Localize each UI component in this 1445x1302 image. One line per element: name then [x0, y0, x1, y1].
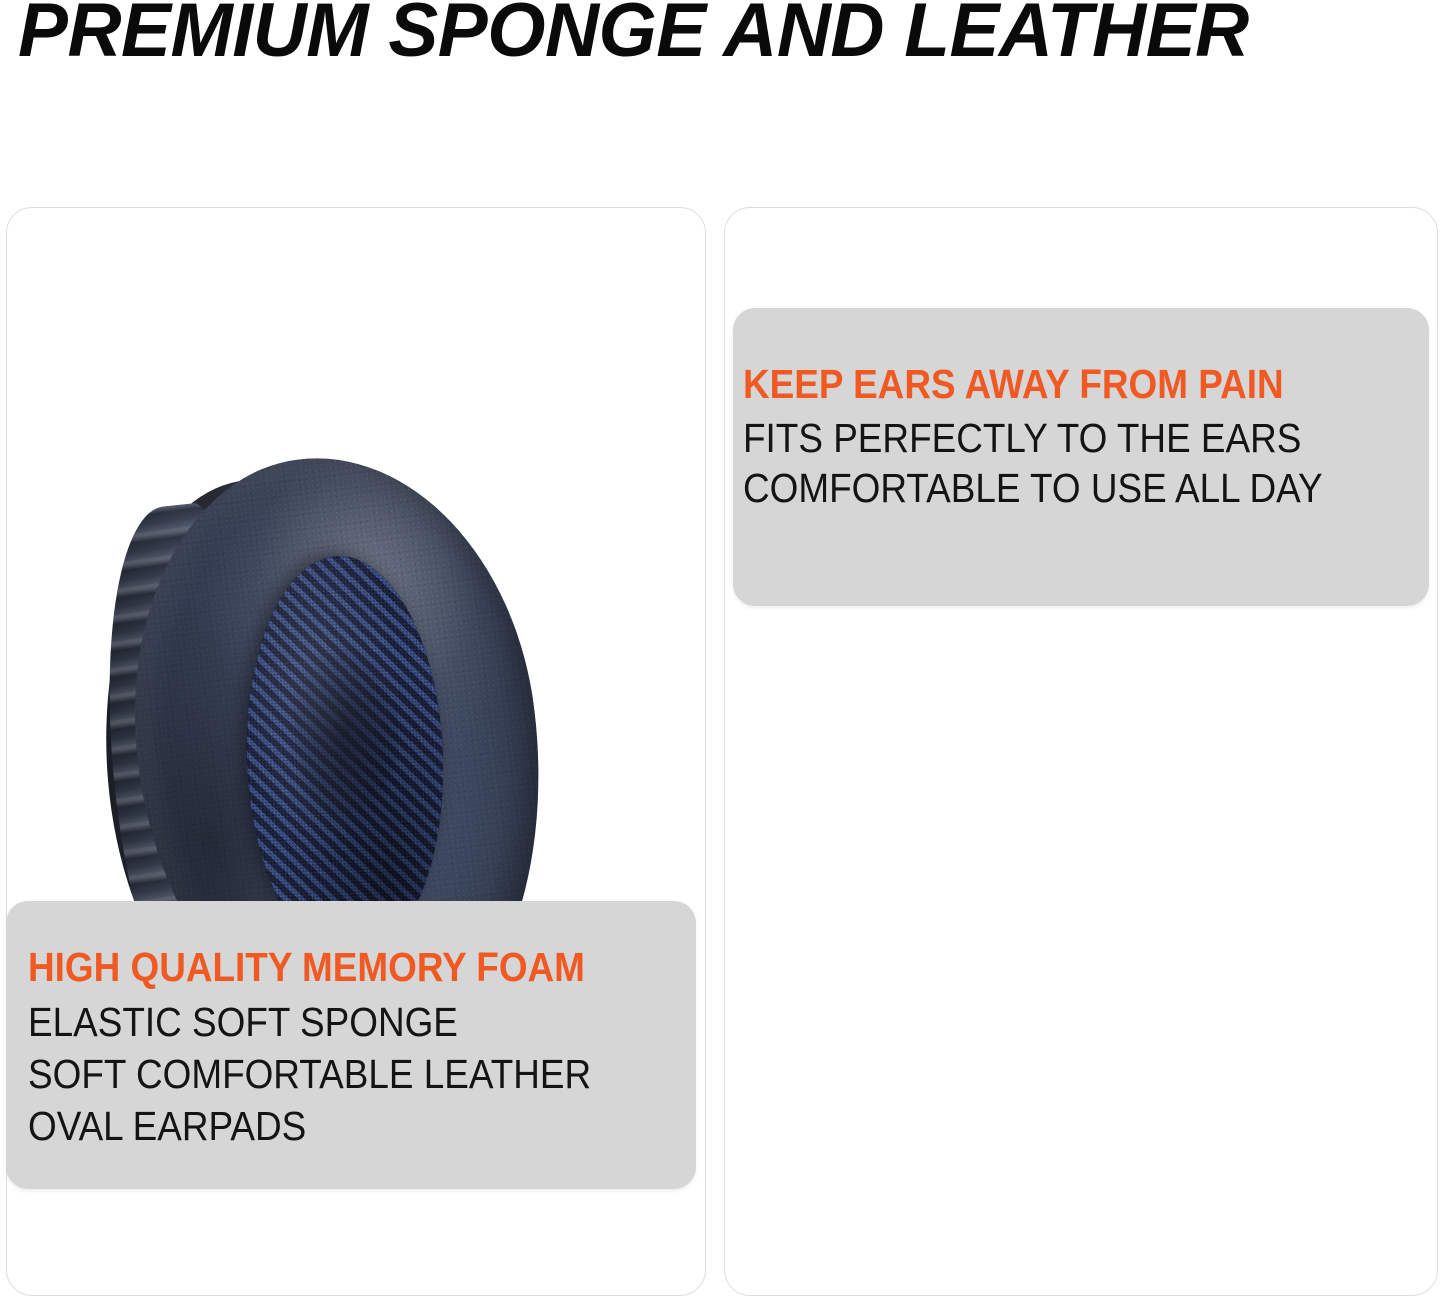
- page-title: PREMIUM SPONGE AND LEATHER: [18, 0, 1417, 71]
- product-feature-banner: PREMIUM SPONGE AND LEATHER: [0, 0, 1445, 1302]
- callout-line: COMFORTABLE TO USE ALL DAY: [743, 463, 1360, 513]
- callout-headline: KEEP EARS AWAY FROM PAIN: [743, 360, 1360, 409]
- callout-line: ELASTIC SOFT SPONGE: [28, 996, 629, 1048]
- callout-high-quality-memory-foam: HIGH QUALITY MEMORY FOAM ELASTIC SOFT SP…: [6, 901, 696, 1189]
- callout-line: SOFT COMFORTABLE LEATHER: [28, 1048, 629, 1100]
- callout-keep-ears-away-from-pain: KEEP EARS AWAY FROM PAIN FITS PERFECTLY …: [733, 308, 1429, 606]
- callout-headline: HIGH QUALITY MEMORY FOAM: [28, 943, 629, 992]
- callout-line: OVAL EARPADS: [28, 1100, 629, 1152]
- callout-line: FITS PERFECTLY TO THE EARS: [743, 413, 1360, 463]
